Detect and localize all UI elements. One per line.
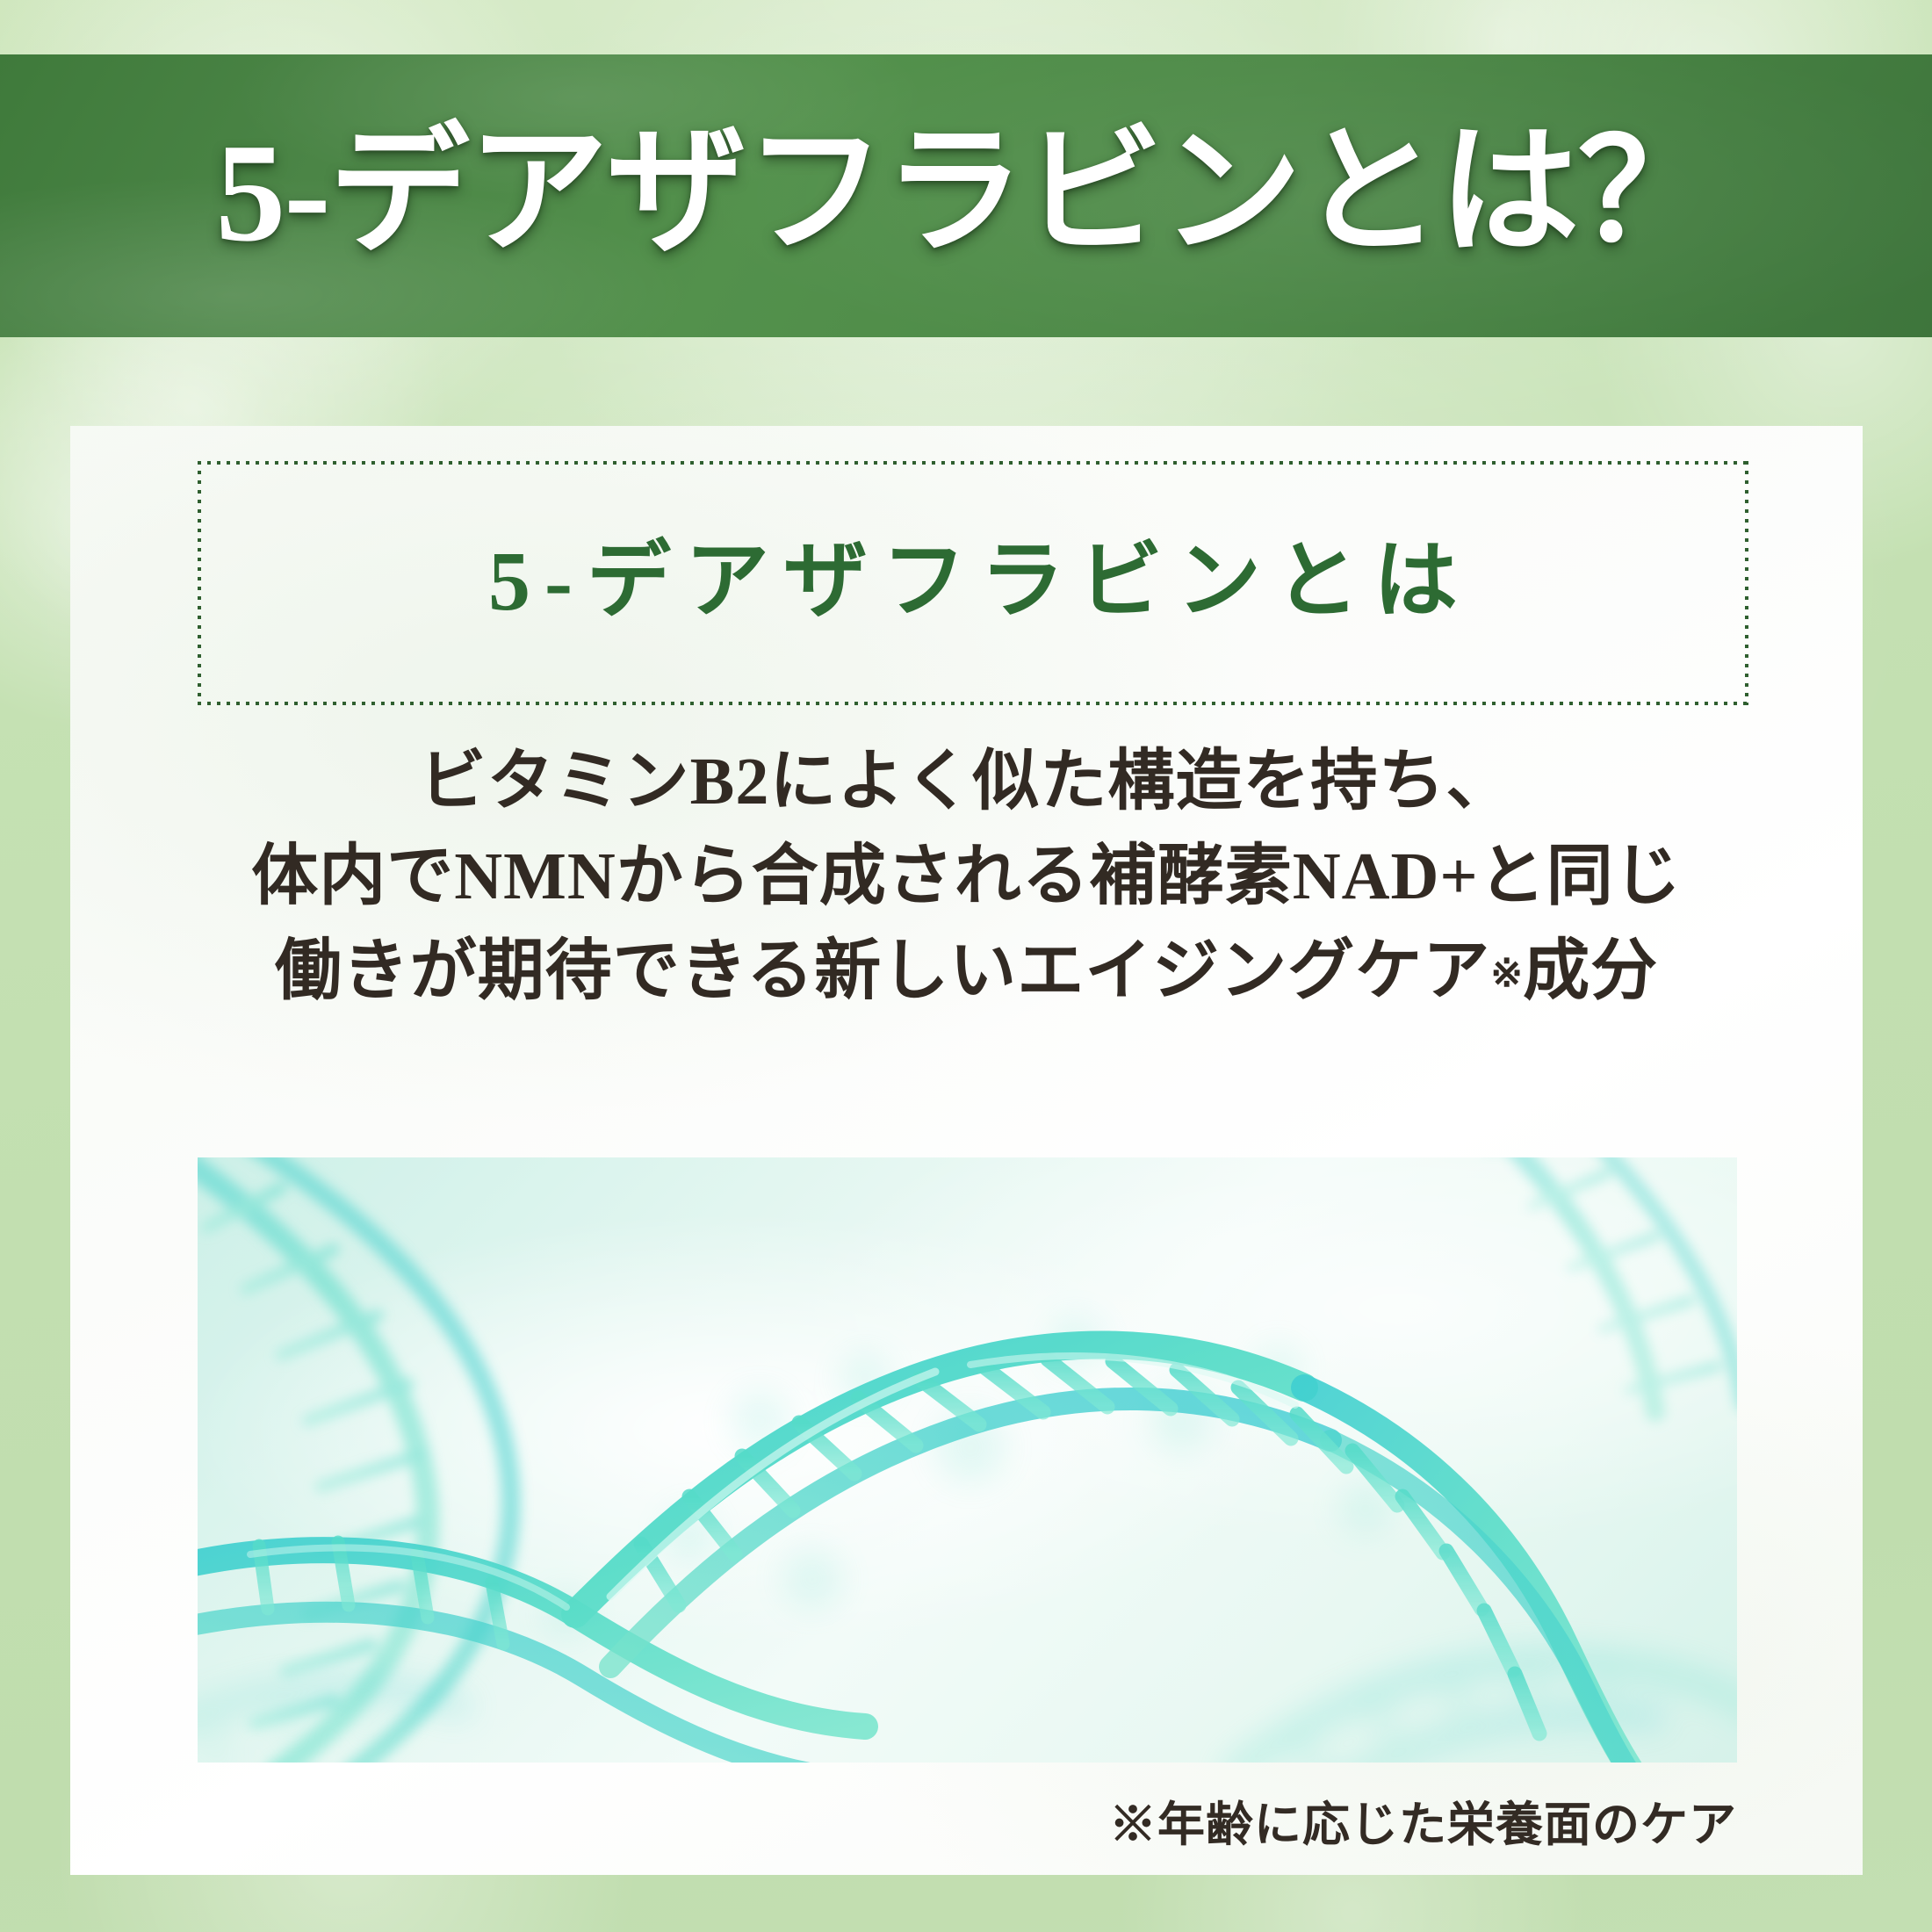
asterisk-mark-inline: ※: [1490, 952, 1523, 995]
dna-helix-icon: [198, 1157, 1737, 1763]
footnote-text: ※年齢に応じた栄養面のケア: [70, 1785, 1737, 1855]
body-paragraph: ビタミンB2によく似た構造を持ち、 体内でNMNから合成される補酵素NAD+と同…: [70, 735, 1863, 1020]
header-banner: 5-デアザフラビンとは？: [0, 54, 1932, 337]
dna-helix-background-left: [198, 1157, 511, 1763]
dna-helix-background-bottom: [1234, 1660, 1737, 1763]
section-heading: 5-デアザフラビンとは: [474, 539, 1472, 624]
body-line-3-text: 働きが期待できる新しいエイジングケア: [275, 934, 1490, 1008]
body-line-3-suffix: 成分: [1523, 934, 1658, 1008]
dna-helix-background-right: [1471, 1157, 1737, 1412]
body-line-1: ビタミンB2によく似た構造を持ち、: [70, 735, 1863, 830]
page-root: 5-デアザフラビンとは？ 5-デアザフラビンとは ビタミンB2によく似た構造を持…: [0, 0, 1932, 1932]
content-card: 5-デアザフラビンとは ビタミンB2によく似た構造を持ち、 体内でNMNから合成…: [70, 426, 1863, 1875]
heading-dotted-box: 5-デアザフラビンとは: [198, 461, 1748, 705]
body-line-2: 体内でNMNから合成される補酵素NAD+と同じ: [70, 830, 1863, 925]
body-line-3: 働きが期待できる新しいエイジングケア※成分: [70, 925, 1863, 1020]
dna-helix-image: [198, 1157, 1737, 1763]
banner-title: 5-デアザフラビンとは？: [215, 122, 1716, 263]
